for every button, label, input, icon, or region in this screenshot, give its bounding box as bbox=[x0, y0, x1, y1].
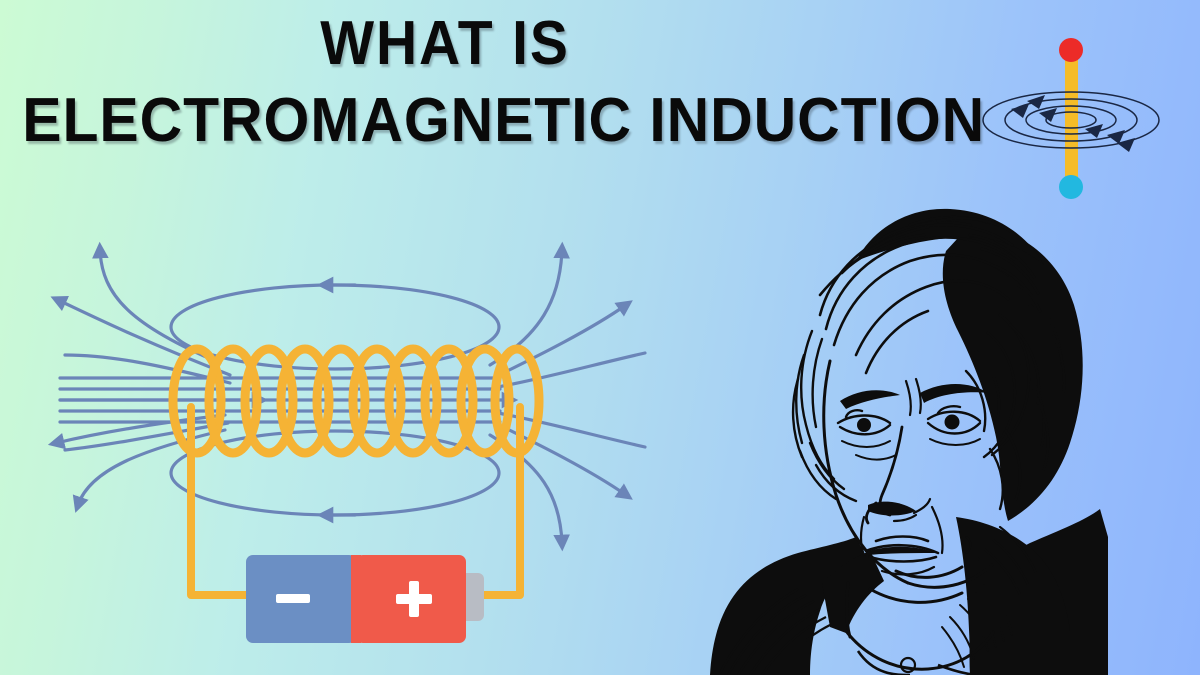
battery-minus-symbol bbox=[276, 594, 310, 603]
current-carrying-wire-icon bbox=[965, 25, 1180, 200]
portrait-ink bbox=[710, 209, 1108, 675]
poster-canvas: WHAT IS ELECTROMAGNETIC INDUCTION bbox=[0, 0, 1200, 675]
title-line-1: WHAT IS bbox=[36, 10, 855, 78]
solenoid-diagram bbox=[70, 255, 670, 665]
scientist-portrait bbox=[670, 165, 1110, 675]
wire-top-dot bbox=[1059, 38, 1083, 62]
jaw-shadow bbox=[870, 589, 962, 602]
wire-bottom-dot bbox=[1059, 175, 1083, 199]
nostril-shadow bbox=[868, 502, 916, 516]
title-line-2: ELECTROMAGNETIC INDUCTION bbox=[22, 86, 868, 156]
page-title: WHAT IS ELECTROMAGNETIC INDUCTION bbox=[0, 10, 890, 156]
eyebrows bbox=[840, 384, 988, 409]
battery bbox=[246, 555, 484, 643]
wire-bar bbox=[1065, 53, 1078, 185]
